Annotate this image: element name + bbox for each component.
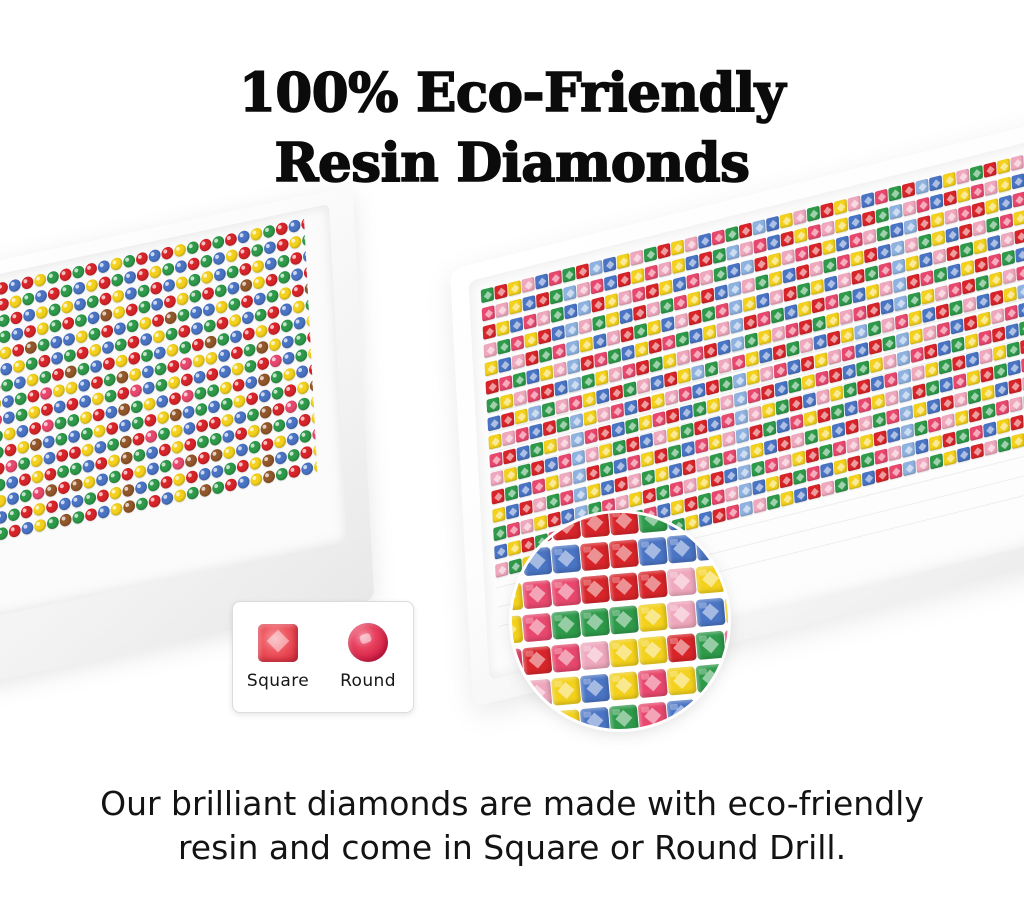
square-drill — [726, 504, 739, 520]
square-drill — [997, 418, 1010, 434]
square-drill — [923, 325, 936, 341]
round-drill — [167, 359, 179, 374]
round-drill — [48, 303, 60, 318]
round-drill — [215, 284, 227, 299]
square-drill — [805, 429, 818, 445]
square-drill — [552, 343, 565, 359]
square-drill — [906, 255, 919, 271]
round-drill — [232, 362, 244, 377]
square-drill — [659, 279, 672, 295]
square-drill — [619, 308, 632, 324]
magnified-square-drill — [609, 671, 639, 700]
square-drill — [590, 278, 603, 294]
square-drill — [494, 543, 507, 559]
round-drill — [248, 424, 260, 439]
magnified-square-drill — [522, 580, 552, 609]
square-drill — [740, 501, 753, 517]
square-drill — [845, 419, 858, 435]
square-drill — [753, 497, 766, 513]
square-drill — [518, 463, 531, 479]
round-drill — [119, 418, 131, 433]
square-drill — [930, 453, 943, 469]
square-drill — [910, 347, 923, 363]
round-drill — [296, 364, 308, 379]
square-drill — [846, 437, 859, 453]
square-drill — [937, 322, 950, 338]
square-drill — [974, 238, 987, 254]
square-drill — [824, 275, 837, 291]
square-drill — [605, 293, 618, 309]
square-drill — [894, 295, 907, 311]
square-drill — [799, 319, 812, 335]
round-drill — [139, 316, 151, 331]
square-drill — [851, 269, 864, 285]
square-drill — [584, 410, 597, 426]
magnified-square-drill — [609, 513, 639, 536]
square-drill — [761, 384, 774, 400]
square-drill — [821, 221, 834, 237]
square-drill — [791, 432, 804, 448]
magnified-square-drill — [551, 709, 581, 729]
round-drill — [3, 427, 15, 442]
round-drill — [111, 273, 123, 288]
square-drill — [752, 219, 765, 235]
square-drill — [956, 428, 969, 444]
round-drill — [265, 273, 277, 288]
round-drill — [202, 286, 214, 301]
square-drill — [813, 315, 826, 331]
round-drill — [184, 437, 196, 452]
magnified-square-drill — [551, 513, 581, 541]
round-drill — [151, 297, 163, 312]
square-drill — [483, 323, 496, 339]
square-drill — [668, 444, 681, 460]
round-drill — [55, 432, 67, 447]
square-drill — [1017, 283, 1024, 299]
square-drill — [807, 465, 820, 481]
round-drill — [173, 472, 185, 487]
square-drill — [899, 387, 912, 403]
square-drill — [895, 313, 908, 329]
square-drill — [802, 374, 815, 390]
square-drill — [975, 257, 988, 273]
round-drill — [155, 378, 167, 393]
round-drill — [182, 405, 194, 420]
square-drill — [875, 467, 888, 483]
square-drill — [854, 324, 867, 340]
square-drill — [793, 209, 806, 225]
magnified-square-drill — [522, 514, 552, 543]
square-drill — [615, 494, 628, 510]
square-drill — [686, 273, 699, 289]
square-drill — [666, 408, 679, 424]
round-drill — [123, 499, 135, 514]
square-drill — [555, 398, 568, 414]
round-drill — [87, 294, 99, 309]
round-drill — [131, 400, 143, 415]
square-drill — [624, 400, 637, 416]
square-drill — [905, 237, 918, 253]
square-drill — [794, 487, 807, 503]
square-drill — [924, 343, 937, 359]
square-drill — [1004, 286, 1017, 302]
square-drill — [650, 356, 663, 372]
round-drill — [298, 413, 310, 428]
square-drill — [782, 249, 795, 265]
round-drill — [239, 262, 251, 277]
round-drill — [254, 308, 266, 323]
square-drill — [762, 402, 775, 418]
square-drill — [573, 468, 586, 484]
round-drill — [170, 424, 182, 439]
square-drill — [932, 230, 945, 246]
square-drill — [1020, 338, 1024, 354]
round-drill — [121, 467, 133, 482]
round-drill — [275, 451, 287, 466]
round-drill — [170, 408, 182, 423]
square-drill — [963, 297, 976, 313]
square-drill — [808, 224, 821, 240]
round-drill — [156, 394, 168, 409]
square-drill — [630, 250, 643, 266]
square-drill — [1007, 341, 1020, 357]
round-drill — [174, 488, 186, 503]
square-drill — [849, 232, 862, 248]
round-drill — [153, 329, 165, 344]
square-drill — [702, 306, 715, 322]
round-drill — [75, 313, 87, 328]
round-drill — [243, 327, 255, 342]
round-drill — [240, 278, 252, 293]
square-drill — [946, 245, 959, 261]
round-drill — [78, 378, 90, 393]
magnified-square-drill — [638, 603, 668, 632]
round-drill — [273, 418, 285, 433]
square-drill — [734, 391, 747, 407]
round-drill — [281, 319, 293, 334]
square-drill — [998, 436, 1011, 452]
round-drill — [280, 302, 292, 317]
round-drill — [34, 518, 46, 533]
square-drill — [871, 375, 884, 391]
square-drill — [793, 469, 806, 485]
round-drill — [33, 502, 45, 517]
square-drill — [996, 400, 1009, 416]
round-drill — [22, 292, 34, 307]
round-drill — [154, 346, 166, 361]
square-drill — [736, 427, 749, 443]
square-drill — [655, 466, 668, 482]
square-drill — [853, 305, 866, 321]
round-drill — [218, 348, 230, 363]
round-drill — [137, 267, 149, 282]
square-drill — [725, 486, 738, 502]
square-drill — [856, 360, 869, 376]
round-drill — [260, 421, 272, 436]
square-drill — [914, 420, 927, 436]
legend-item-square[interactable]: Square — [233, 602, 323, 712]
square-drill — [784, 304, 797, 320]
square-drill — [650, 374, 663, 390]
round-drill — [124, 270, 136, 285]
round-drill — [263, 470, 275, 485]
round-drill — [136, 251, 148, 266]
round-drill — [10, 311, 22, 326]
square-drill — [980, 366, 993, 382]
square-drill — [772, 326, 785, 342]
square-drill — [728, 281, 741, 297]
square-drill — [864, 247, 877, 263]
round-drill — [98, 276, 110, 291]
square-drill — [727, 263, 740, 279]
square-drill — [934, 267, 947, 283]
round-drill — [132, 432, 144, 447]
round-drill — [276, 221, 288, 236]
square-drill — [969, 406, 982, 422]
square-drill — [523, 313, 536, 329]
square-drill — [841, 327, 854, 343]
square-drill — [504, 467, 517, 483]
round-drill — [79, 394, 91, 409]
square-drill — [874, 430, 887, 446]
square-drill — [517, 445, 530, 461]
square-drill — [881, 317, 894, 333]
magnified-square-drill — [551, 610, 581, 639]
round-drill — [182, 389, 194, 404]
round-drill — [162, 262, 174, 277]
square-drill — [637, 378, 650, 394]
square-drill — [613, 440, 626, 456]
square-drill — [642, 469, 655, 485]
square-drill — [511, 335, 524, 351]
square-drill — [676, 331, 689, 347]
square-drill — [554, 380, 567, 396]
square-drill — [649, 338, 662, 354]
square-drill — [917, 215, 930, 231]
square-drill — [731, 336, 744, 352]
square-drill — [879, 280, 892, 296]
square-drill — [723, 449, 736, 465]
round-drill — [277, 254, 289, 269]
square-drill — [903, 460, 916, 476]
round-drill — [28, 405, 40, 420]
square-drill — [570, 413, 583, 429]
round-drill — [104, 373, 116, 388]
square-drill — [692, 383, 705, 399]
square-drill — [955, 410, 968, 426]
square-drill — [493, 525, 506, 541]
square-drill — [948, 282, 961, 298]
square-drill — [645, 265, 658, 281]
square-drill — [883, 353, 896, 369]
magnified-square-drill — [580, 707, 610, 729]
magnified-square-drill — [695, 598, 725, 627]
square-drill — [1019, 320, 1024, 336]
magnified-square-drill — [551, 643, 581, 672]
square-drill — [1016, 265, 1024, 281]
round-drill — [2, 394, 14, 409]
round-drill — [297, 381, 309, 396]
round-drill — [177, 308, 189, 323]
round-drill — [221, 413, 233, 428]
square-drill — [587, 483, 600, 499]
round-drill — [5, 459, 17, 474]
round-drill — [237, 459, 249, 474]
square-drill — [831, 404, 844, 420]
square-drill — [724, 467, 737, 483]
round-drill — [62, 316, 74, 331]
square-drill — [786, 341, 799, 357]
round-drill — [66, 397, 78, 412]
legend-item-round[interactable]: Round — [323, 602, 413, 712]
square-drill — [585, 446, 598, 462]
square-drill — [952, 355, 965, 371]
round-drill — [7, 491, 19, 506]
square-drill — [935, 285, 948, 301]
round-drill — [148, 249, 160, 264]
square-drill — [848, 473, 861, 489]
round-drill — [161, 491, 173, 506]
square-drill — [697, 474, 710, 490]
square-drill — [862, 210, 875, 226]
square-drill — [826, 312, 839, 328]
round-drill — [159, 443, 171, 458]
square-drill — [783, 286, 796, 302]
round-drill — [46, 499, 58, 514]
square-drill — [965, 333, 978, 349]
round-drill — [24, 324, 36, 339]
round-drill — [8, 507, 20, 522]
round-drill — [248, 440, 260, 455]
round-drill — [265, 257, 277, 272]
square-drill — [848, 214, 861, 230]
round-drill — [77, 362, 89, 377]
square-drill — [707, 397, 720, 413]
round-drill — [237, 230, 249, 245]
round-drill — [183, 421, 195, 436]
square-drill — [933, 248, 946, 264]
square-drill — [992, 326, 1005, 342]
round-drill — [44, 467, 56, 482]
magnified-square-drill — [695, 631, 725, 660]
round-drill — [149, 265, 161, 280]
round-drill — [135, 480, 147, 495]
round-drill — [206, 367, 218, 382]
square-drill — [774, 362, 787, 378]
round-drill — [129, 367, 141, 382]
round-drill — [97, 489, 109, 504]
square-drill — [675, 313, 688, 329]
round-drill — [141, 348, 153, 363]
square-drill — [496, 320, 509, 336]
square-drill — [1013, 210, 1024, 226]
round-drill — [63, 332, 75, 347]
square-drill — [703, 324, 716, 340]
square-drill — [651, 393, 664, 409]
square-drill — [627, 454, 640, 470]
square-drill — [850, 250, 863, 266]
square-drill — [821, 480, 834, 496]
round-drill — [221, 397, 233, 412]
square-drill — [900, 405, 913, 421]
square-drill — [785, 322, 798, 338]
round-drill — [76, 329, 88, 344]
round-drill — [226, 265, 238, 280]
square-drill — [959, 223, 972, 239]
square-drill — [771, 307, 784, 323]
square-drill — [557, 435, 570, 451]
magnified-square-drill — [609, 638, 639, 667]
round-drill — [0, 478, 6, 493]
round-drill — [85, 507, 97, 522]
square-drill — [865, 265, 878, 281]
square-drill — [858, 397, 871, 413]
square-drill — [593, 333, 606, 349]
magnified-square-drill — [638, 513, 668, 533]
round-drill — [293, 316, 305, 331]
square-drill — [931, 212, 944, 228]
square-drill — [484, 342, 497, 358]
square-drill — [773, 344, 786, 360]
round-drill — [133, 448, 145, 463]
round-drill — [98, 259, 110, 274]
round-drill — [80, 410, 92, 425]
round-drill — [0, 445, 4, 460]
square-drill — [1003, 268, 1016, 284]
round-drill — [214, 267, 226, 282]
square-drill — [638, 396, 651, 412]
square-drill — [779, 472, 792, 488]
magnified-square-drill — [667, 534, 697, 563]
round-drill — [205, 351, 217, 366]
square-drill — [855, 342, 868, 358]
round-drill — [212, 235, 224, 250]
round-drill — [210, 448, 222, 463]
round-drill — [187, 486, 199, 501]
square-drill — [721, 412, 734, 428]
square-drill — [902, 442, 915, 458]
round-drill — [209, 432, 221, 447]
square-drill — [920, 270, 933, 286]
square-drill — [893, 277, 906, 293]
square-drill — [757, 311, 770, 327]
square-drill — [712, 489, 725, 505]
round-drill — [26, 356, 38, 371]
square-drill — [834, 199, 847, 215]
round-drill — [261, 437, 273, 452]
round-drill — [148, 478, 160, 493]
square-drill — [730, 317, 743, 333]
square-drill — [648, 319, 661, 335]
square-drill — [882, 335, 895, 351]
square-drill — [795, 246, 808, 262]
drill-type-legend[interactable]: Square Round — [232, 601, 414, 713]
magnified-square-drill — [580, 513, 610, 538]
square-drill — [653, 429, 666, 445]
round-drill — [154, 362, 166, 377]
square-drill — [755, 274, 768, 290]
round-drill — [37, 338, 49, 353]
page-title: 100% Eco-Friendly Resin Diamonds — [0, 58, 1024, 199]
square-drill — [812, 297, 825, 313]
round-drill — [115, 354, 127, 369]
round-drill — [186, 470, 198, 485]
square-drill — [827, 330, 840, 346]
magnified-square-drill — [580, 674, 610, 703]
square-drill — [957, 446, 970, 462]
square-drill — [978, 330, 991, 346]
square-drill — [813, 334, 826, 350]
